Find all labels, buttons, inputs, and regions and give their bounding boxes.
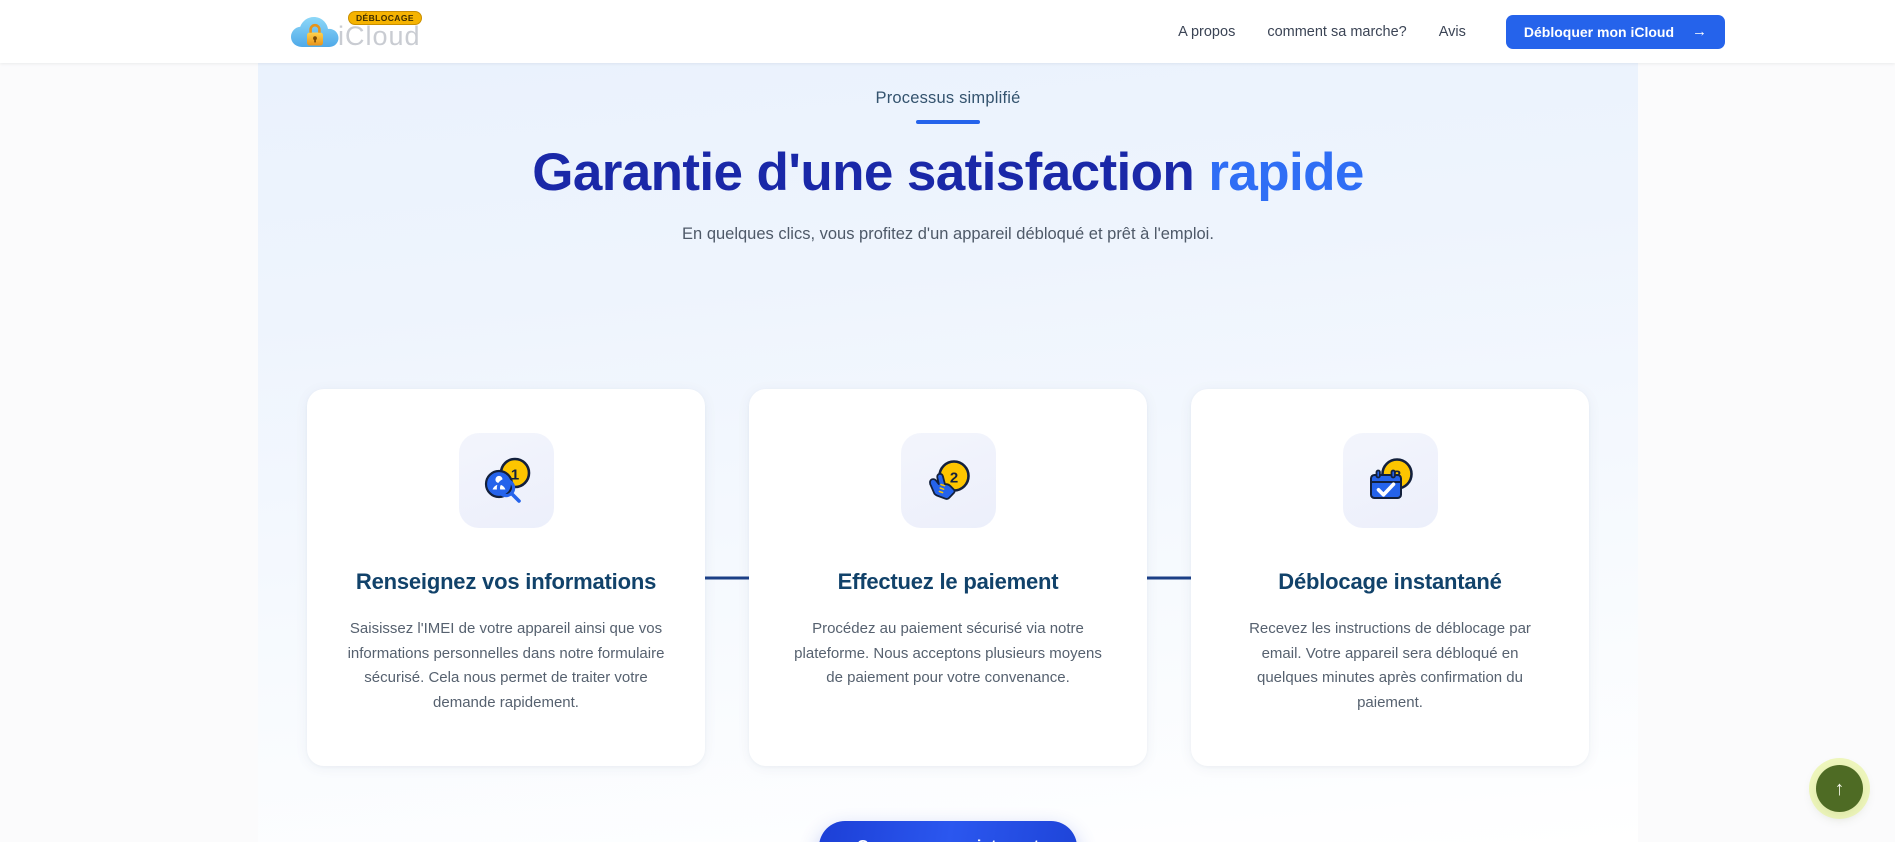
nav-link-a-propos[interactable]: A propos bbox=[1162, 16, 1251, 48]
site-header: DÉBLOCAGE iCloud A propos comment sa mar… bbox=[0, 0, 1895, 63]
unlock-icloud-button-label: Débloquer mon iCloud bbox=[1524, 24, 1674, 40]
section-eyebrow-wrap: Processus simplifié bbox=[258, 63, 1638, 124]
eyebrow-underline bbox=[916, 120, 980, 124]
step-connector-1-2 bbox=[705, 576, 749, 579]
hand-payment-icon: 2 bbox=[901, 433, 996, 528]
page-title-accent: rapide bbox=[1208, 143, 1363, 202]
step-title-1: Renseignez vos informations bbox=[347, 569, 665, 595]
step-text-1: Saisissez l'IMEI de votre appareil ainsi… bbox=[347, 617, 665, 715]
main-navigation: A propos comment sa marche? Avis Débloqu… bbox=[1162, 0, 1725, 63]
unlock-icloud-button[interactable]: Débloquer mon iCloud → bbox=[1506, 15, 1725, 49]
steps-list: 1 Renseignez vos informations Saisissez … bbox=[258, 389, 1638, 766]
nav-link-comment-sa-marche[interactable]: comment sa marche? bbox=[1251, 16, 1422, 48]
page-subtitle: En quelques clics, vous profitez d'un ap… bbox=[258, 225, 1638, 244]
page-title-main: Garantie d'une satisfaction bbox=[532, 143, 1208, 202]
user-search-icon: 1 bbox=[459, 433, 554, 528]
step-card-1: 1 Renseignez vos informations Saisissez … bbox=[307, 389, 705, 766]
step-title-2: Effectuez le paiement bbox=[789, 569, 1107, 595]
site-logo[interactable]: DÉBLOCAGE iCloud bbox=[288, 6, 421, 52]
arrow-right-icon: → bbox=[1692, 24, 1707, 39]
section-eyebrow: Processus simplifié bbox=[258, 89, 1638, 108]
step-title-3: Déblocage instantané bbox=[1231, 569, 1549, 595]
page-body: Processus simplifié Garantie d'une satis… bbox=[0, 63, 1895, 842]
calendar-check-icon: 3 bbox=[1343, 433, 1438, 528]
scroll-to-top-button[interactable]: ↑ bbox=[1816, 765, 1863, 812]
logo-badge: DÉBLOCAGE bbox=[348, 11, 422, 25]
logo-wordmark: iCloud bbox=[338, 23, 421, 50]
step-card-2: 2 Effectuez le paiement Procédez au paie… bbox=[749, 389, 1147, 766]
bottom-cta-wrap: Commencer maintenant bbox=[258, 821, 1638, 842]
commencer-maintenant-button[interactable]: Commencer maintenant bbox=[819, 821, 1077, 842]
page-title: Garantie d'une satisfaction rapide bbox=[258, 143, 1638, 203]
nav-link-avis[interactable]: Avis bbox=[1423, 16, 1482, 48]
step-text-3: Recevez les instructions de déblocage pa… bbox=[1231, 617, 1549, 715]
process-section: Processus simplifié Garantie d'une satis… bbox=[258, 63, 1638, 842]
step-number-2: 2 bbox=[950, 469, 958, 486]
step-card-3: 3 Déblocage instantané Recevez les instr… bbox=[1191, 389, 1589, 766]
step-connector-2-3 bbox=[1147, 576, 1191, 579]
step-text-2: Procédez au paiement sécurisé via notre … bbox=[789, 617, 1107, 691]
arrow-up-icon: ↑ bbox=[1835, 779, 1845, 799]
cloud-lock-icon bbox=[288, 10, 342, 52]
